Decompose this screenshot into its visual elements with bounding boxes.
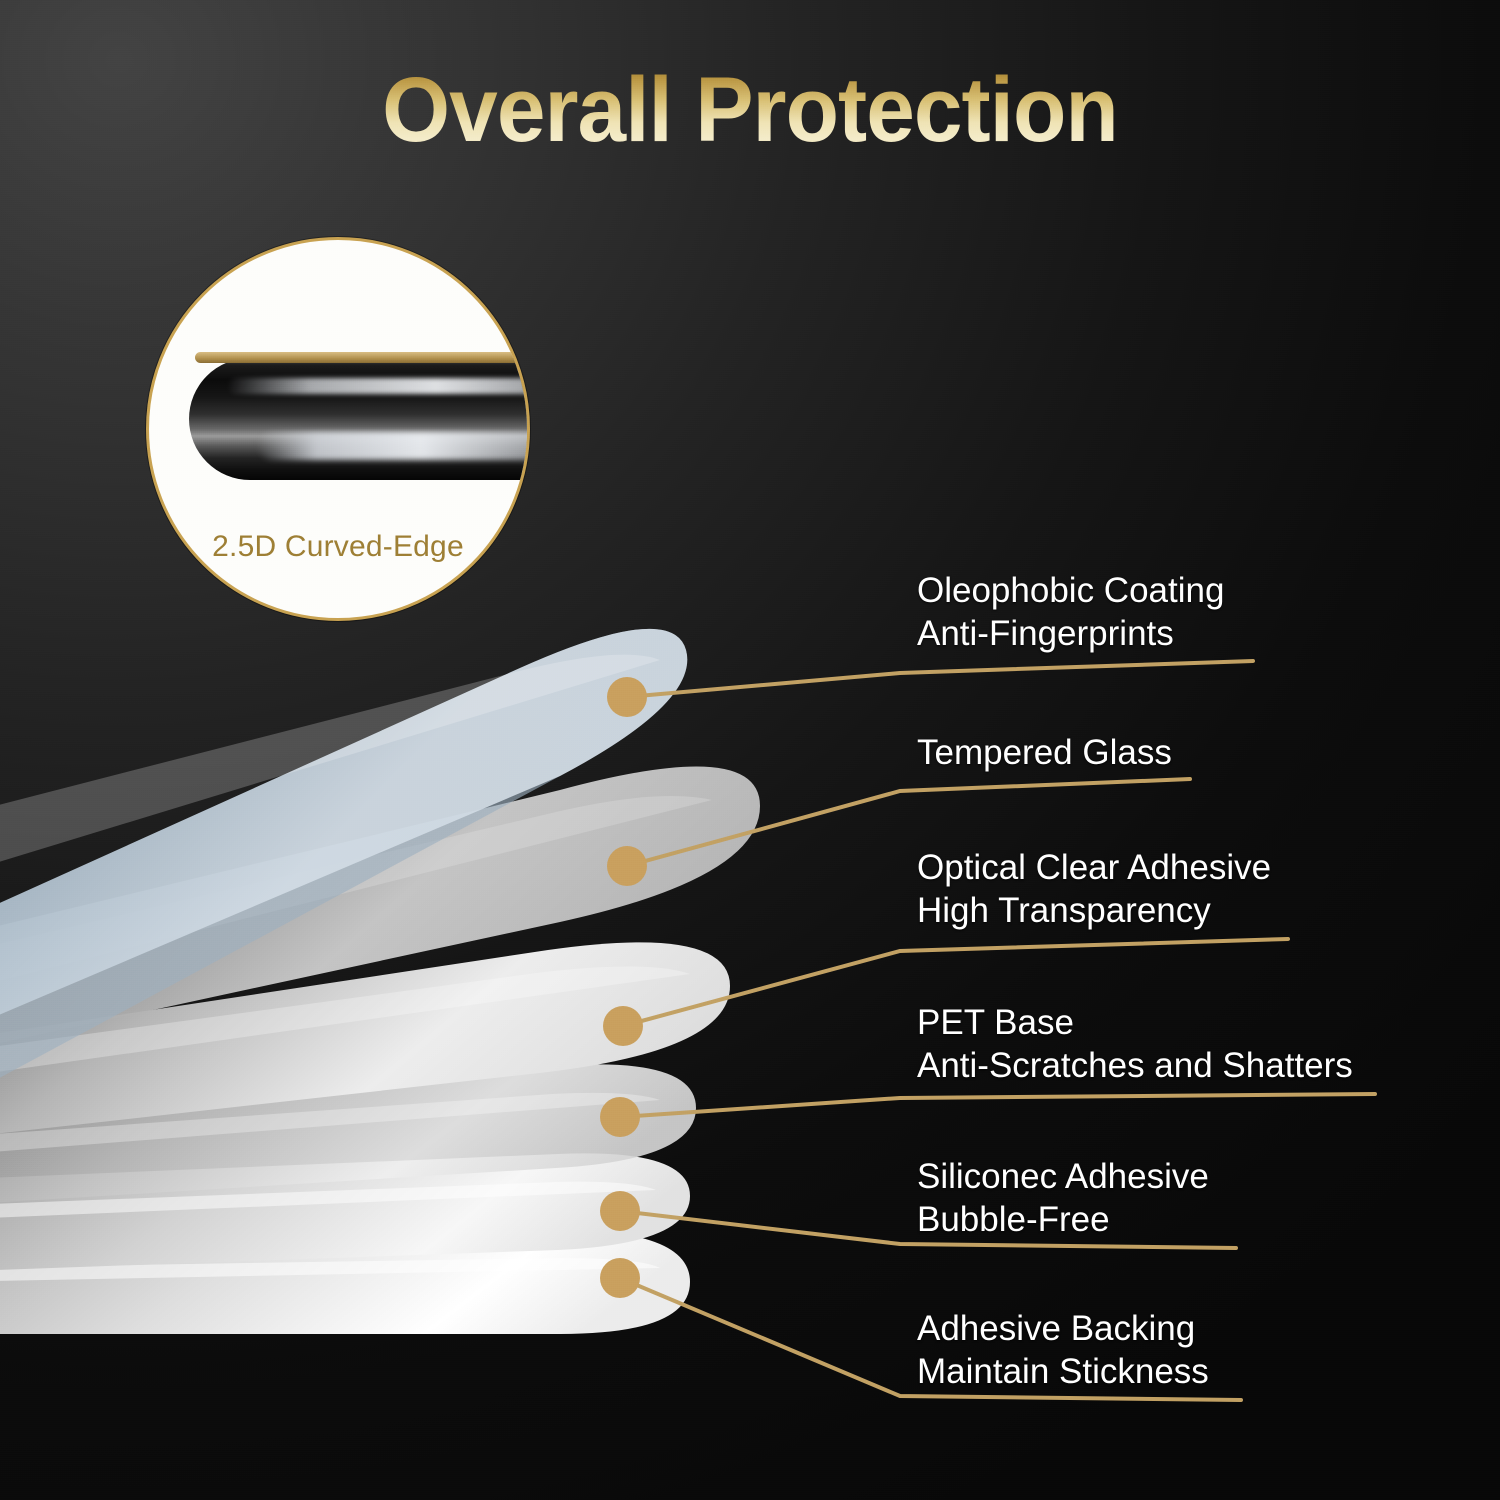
callout-leader-lines: [0, 0, 1500, 1500]
callout-label-2-line1: Tempered Glass: [917, 733, 1172, 772]
callout-label-4-line1: PET Base: [917, 1003, 1074, 1042]
inset-caption: 2.5D Curved-Edge: [149, 530, 527, 564]
callout-label-3: Optical Clear Adhesive High Transparency: [917, 847, 1271, 932]
callout-dot-1: [607, 677, 647, 717]
callout-label-5-line1: Siliconec Adhesive: [917, 1157, 1209, 1196]
callout-label-6-line1: Adhesive Backing: [917, 1309, 1195, 1348]
callout-label-1-line2: Anti-Fingerprints: [917, 613, 1224, 656]
curved-edge-inset: 2.5D Curved-Edge: [146, 237, 530, 621]
callout-dot-4: [600, 1097, 640, 1137]
infographic-canvas: Overall Protection 2.5D Curved-Edge Oleo…: [0, 0, 1500, 1500]
callout-label-5-line2: Bubble-Free: [917, 1199, 1209, 1242]
callout-label-1: Oleophobic Coating Anti-Fingerprints: [917, 570, 1224, 655]
callout-dot-2: [607, 846, 647, 886]
callout-label-2: Tempered Glass: [917, 732, 1172, 775]
callout-label-6: Adhesive Backing Maintain Stickness: [917, 1308, 1209, 1393]
edge-highlight-bottom: [257, 432, 530, 460]
page-title: Overall Protection: [38, 62, 1463, 159]
gold-edge-strip-icon: [195, 352, 530, 363]
callout-label-6-line2: Maintain Stickness: [917, 1351, 1209, 1394]
callout-dot-6: [600, 1258, 640, 1298]
callout-dots: [600, 677, 647, 1298]
phone-edge-illustration: [189, 358, 530, 480]
callout-dot-5: [600, 1191, 640, 1231]
callout-label-3-line1: Optical Clear Adhesive: [917, 848, 1271, 887]
callout-dot-3: [603, 1006, 643, 1046]
callout-label-5: Siliconec Adhesive Bubble-Free: [917, 1156, 1209, 1241]
leader-line-4: [620, 1094, 1375, 1117]
callout-label-3-line2: High Transparency: [917, 890, 1271, 933]
callout-label-1-line1: Oleophobic Coating: [917, 571, 1224, 610]
callout-label-4: PET Base Anti-Scratches and Shatters: [917, 1002, 1353, 1087]
leader-line-1: [627, 661, 1253, 697]
edge-highlight-top: [227, 378, 530, 394]
callout-label-4-line2: Anti-Scratches and Shatters: [917, 1045, 1353, 1088]
